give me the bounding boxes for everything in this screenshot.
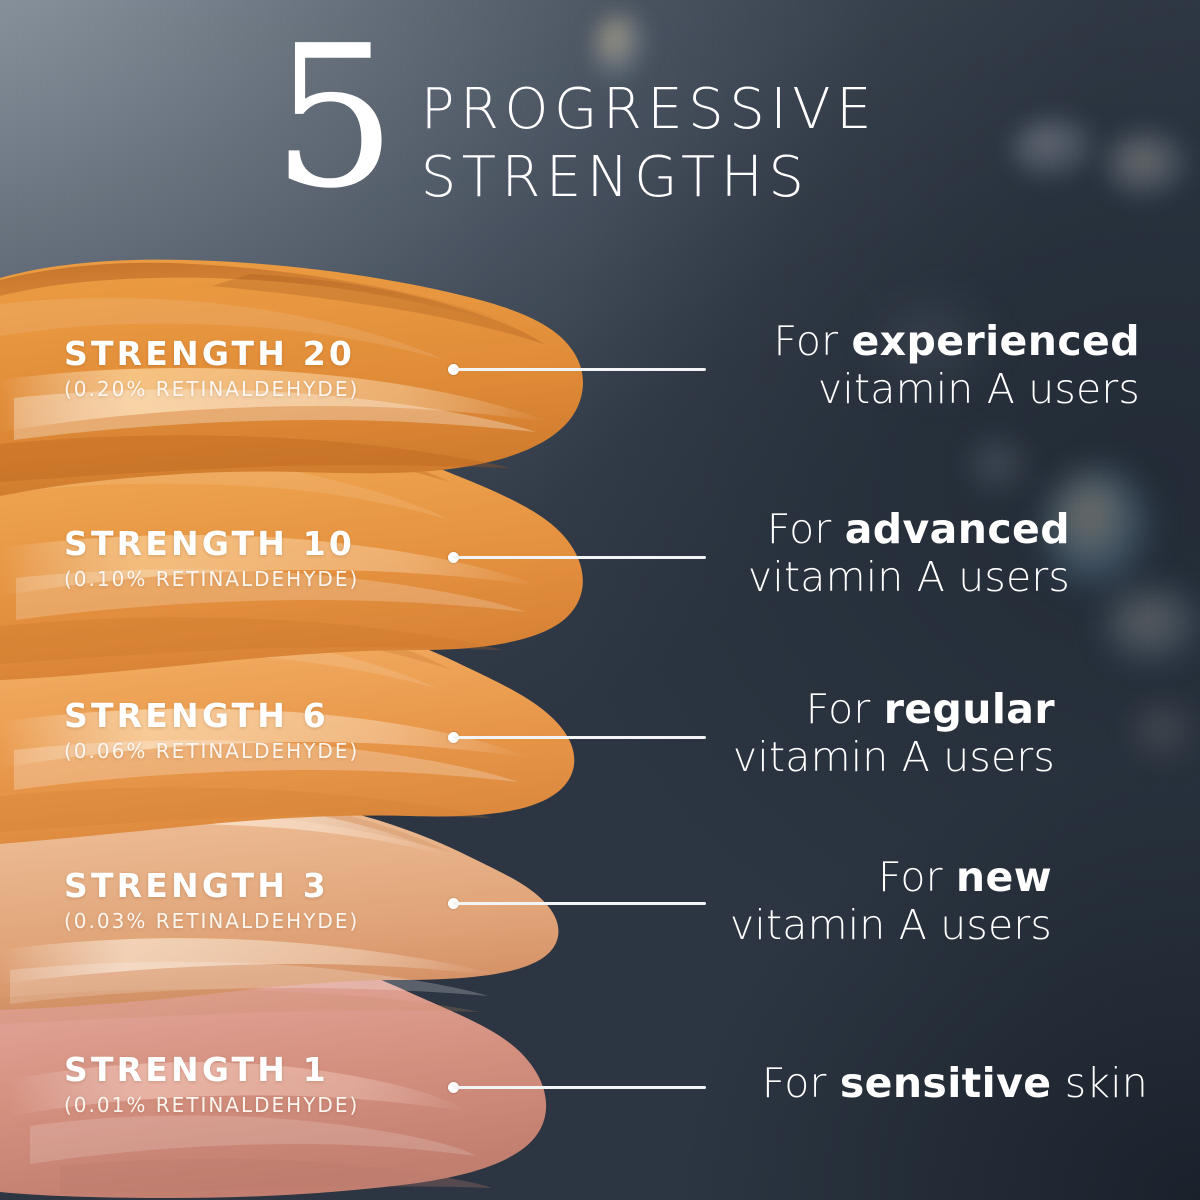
description-line-2: vitamin A users [700,554,1070,602]
description-emphasis: advanced [845,505,1070,553]
description-emphasis: regular [884,685,1055,733]
description-20: For experienced vitamin A users [700,318,1140,413]
description-prefix: For [767,505,845,553]
infographic-canvas: 5 PROGRESSIVE STRENGTHS STRENGTH 20 (0.2… [0,0,1200,1200]
description-prefix: For [774,317,852,365]
description-prefix: For [878,853,956,901]
description-10: For advanced vitamin A users [700,506,1070,601]
description-emphasis: sensitive [840,1059,1052,1107]
description-line-2: vitamin A users [700,902,1052,950]
description-1: For sensitive skin [700,1060,1148,1108]
description-prefix: For [762,1059,840,1107]
description-line-1: For advanced [700,506,1070,554]
description-line-1: For regular [700,686,1055,734]
description-line-2: vitamin A users [700,366,1140,414]
description-suffix: skin [1051,1059,1148,1107]
description-prefix: For [806,685,884,733]
description-line-1: For new [700,854,1052,902]
description-line-1: For sensitive skin [700,1060,1148,1108]
description-emphasis: new [956,853,1052,901]
description-3: For new vitamin A users [700,854,1052,949]
description-line-1: For experienced [700,318,1140,366]
description-6: For regular vitamin A users [700,686,1055,781]
description-line-2: vitamin A users [700,734,1055,782]
description-group: For experienced vitamin A users For adva… [0,0,1200,1200]
description-emphasis: experienced [851,317,1140,365]
